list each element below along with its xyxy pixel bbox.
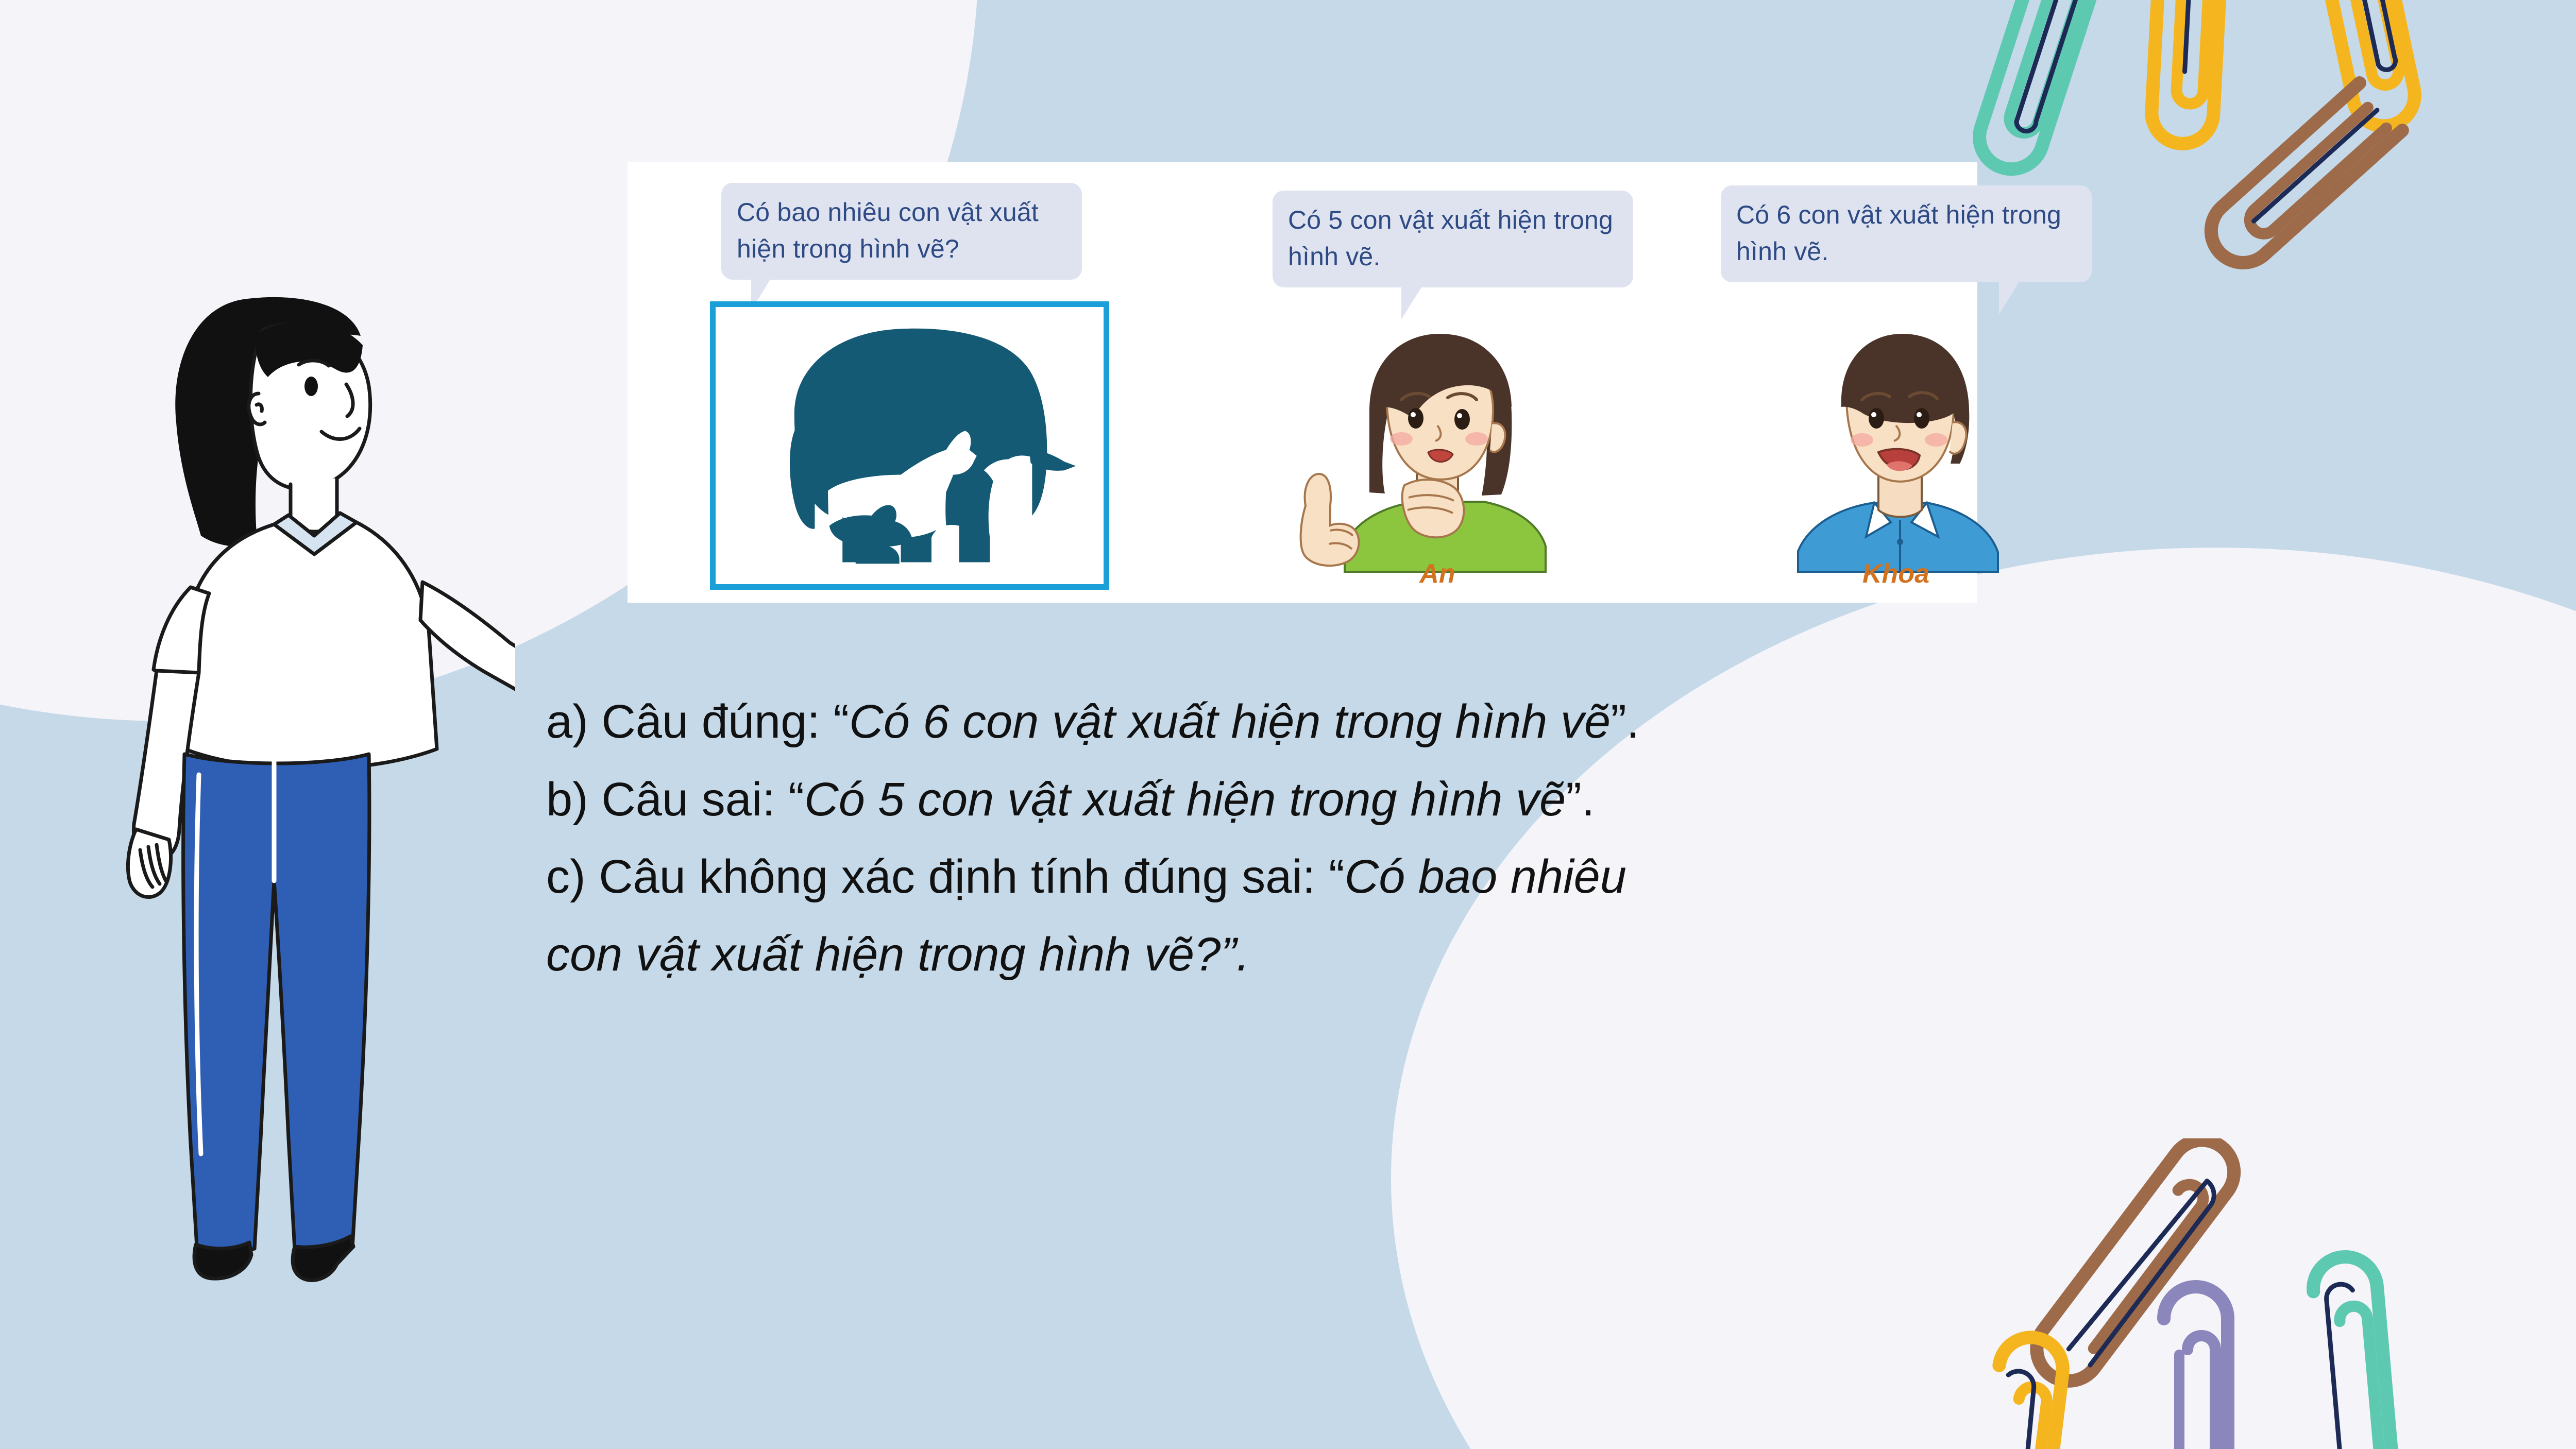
character-an: An	[1278, 304, 1597, 587]
speech-bubble-khoa-text: Có 6 con vật xuất hiện trong hình vẽ.	[1736, 200, 2061, 266]
slide-canvas: Có bao nhiêu con vật xuất hiện trong hìn…	[0, 0, 2576, 1449]
paperclip-yellow-bottom	[1927, 1308, 2143, 1449]
answer-line-a: a) Câu đúng: “Có 6 con vật xuất hiện tro…	[546, 685, 2504, 759]
animal-silhouette-icon	[716, 307, 1104, 584]
answer-block: a) Câu đúng: “Có 6 con vật xuất hiện tro…	[546, 685, 2504, 991]
speech-bubble-khoa: Có 6 con vật xuất hiện trong hình vẽ.	[1721, 185, 2092, 282]
answer-line-b: b) Câu sai: “Có 5 con vật xuất hiện tron…	[546, 763, 2504, 837]
answer-line-c: c) Câu không xác định tính đúng sai: “Có…	[546, 840, 2504, 914]
speech-bubble-question-text: Có bao nhiêu con vật xuất hiện trong hìn…	[737, 198, 1039, 263]
character-name-khoa: Khoa	[1736, 558, 2056, 589]
character-khoa: Khoa	[1736, 304, 2056, 587]
answer-a-quote: Có 6 con vật xuất hiện trong hình vẽ	[849, 695, 1611, 748]
background-blob-bottom-right	[1391, 548, 2576, 1449]
speech-bubble-an-text: Có 5 con vật xuất hiện trong hình vẽ.	[1288, 206, 1613, 271]
answer-c-lead: c) Câu không xác định tính đúng sai: “	[546, 850, 1345, 903]
speech-bubble-question: Có bao nhiêu con vật xuất hiện trong hìn…	[721, 183, 1082, 280]
answer-b-quote: Có 5 con vật xuất hiện trong hình vẽ	[804, 773, 1566, 826]
answer-a-lead: a) Câu đúng: “	[546, 695, 849, 748]
paperclip-brown-bottom	[1973, 1138, 2303, 1449]
paperclip-brown-top-right	[2154, 67, 2473, 335]
paperclip-yellow-top-right	[2282, 0, 2504, 180]
paperclip-purple-bottom	[2102, 1272, 2308, 1449]
answer-c-quote: Có bao nhiêu	[1345, 850, 1626, 903]
answer-line-c-continued: con vật xuất hiện trong hình vẽ?”.	[546, 918, 2504, 992]
animal-silhouette-frame	[710, 301, 1109, 590]
speech-bubble-an: Có 5 con vật xuất hiện trong hình vẽ.	[1273, 191, 1633, 287]
answer-b-lead: b) Câu sai: “	[546, 773, 804, 826]
paperclip-teal-bottom	[2251, 1236, 2468, 1449]
teacher-illustration	[93, 268, 515, 1288]
paperclip-yellow-top-middle	[2092, 0, 2298, 185]
character-name-an: An	[1278, 558, 1597, 589]
answer-b-tail: ”.	[1566, 773, 1595, 826]
answer-a-tail: ”.	[1611, 695, 1639, 748]
